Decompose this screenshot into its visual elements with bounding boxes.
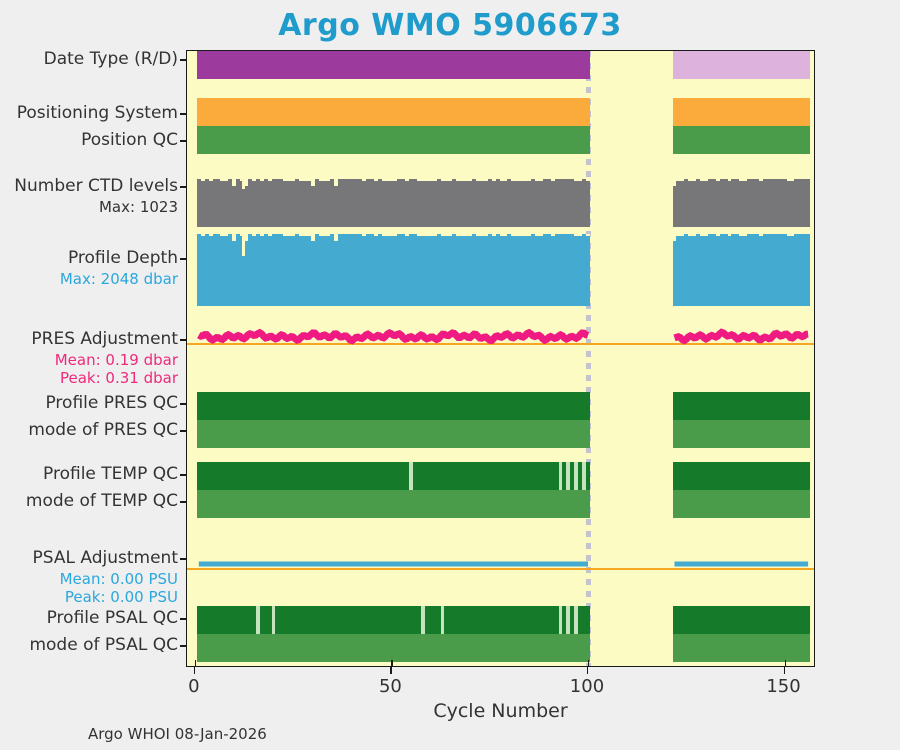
band-notch bbox=[393, 234, 397, 236]
band-notch bbox=[201, 179, 205, 181]
band-notch bbox=[232, 234, 236, 241]
band-notch bbox=[362, 179, 366, 181]
band-notch bbox=[327, 234, 331, 236]
band-notch bbox=[291, 234, 295, 236]
band-notch bbox=[704, 234, 708, 236]
band-notch bbox=[433, 179, 437, 181]
x-axis-title: Cycle Number bbox=[186, 700, 815, 722]
row-sublabel-profile_depth-0: Max: 2048 dbar bbox=[60, 270, 178, 289]
band-notch bbox=[586, 234, 590, 236]
x-tick-label-50: 50 bbox=[350, 676, 430, 697]
row-label-date_type: Date Type (R/D) bbox=[44, 50, 178, 69]
band-notch bbox=[209, 179, 213, 181]
band-notch bbox=[759, 179, 763, 181]
band-dip bbox=[242, 234, 245, 256]
qc-gap-stripe bbox=[559, 462, 563, 490]
band-notch bbox=[232, 179, 236, 186]
x-tick-inner bbox=[195, 660, 197, 666]
band-notch bbox=[374, 179, 378, 181]
row-sublabel-psal_adj-0: Mean: 0.00 PSU bbox=[60, 570, 178, 589]
band-notch bbox=[268, 234, 272, 236]
band-notch bbox=[704, 179, 708, 181]
band-notch bbox=[291, 179, 295, 181]
band-mode_temp_qc bbox=[197, 490, 590, 518]
band-notch bbox=[484, 179, 488, 181]
band-notch bbox=[327, 179, 331, 181]
band-notch bbox=[252, 179, 256, 181]
band-notch bbox=[759, 234, 763, 236]
band-profile_depth bbox=[197, 234, 590, 306]
band-notch bbox=[405, 179, 409, 181]
band-positioning bbox=[673, 98, 811, 126]
band-notch bbox=[728, 234, 732, 236]
qc-gap-stripe bbox=[272, 606, 276, 634]
band-notch bbox=[362, 234, 366, 236]
y-tick-ctd_levels bbox=[180, 186, 186, 188]
band-notch bbox=[334, 179, 338, 186]
y-tick-profile_pres_qc bbox=[180, 403, 186, 405]
x-tick-label-150: 150 bbox=[744, 676, 824, 697]
band-notch bbox=[716, 234, 720, 236]
band-notch bbox=[252, 234, 256, 236]
y-tick-position_qc bbox=[180, 140, 186, 142]
band-position_qc bbox=[197, 126, 590, 154]
band-notch bbox=[551, 179, 555, 181]
band-profile_pres_qc bbox=[197, 392, 590, 420]
row-sublabel-pres_adj-0: Mean: 0.19 dbar bbox=[55, 351, 178, 370]
band-profile_psal_qc bbox=[673, 606, 811, 634]
qc-gap-stripe bbox=[566, 606, 570, 634]
band-notch bbox=[468, 234, 472, 236]
qc-gap-stripe bbox=[421, 606, 425, 634]
x-tick-label-0: 0 bbox=[154, 676, 234, 697]
y-tick-psal_adj bbox=[180, 558, 186, 560]
band-position_qc bbox=[673, 126, 811, 154]
row-sublabel-ctd_levels-0: Max: 1023 bbox=[99, 198, 178, 217]
band-notch bbox=[468, 179, 472, 181]
band-notch bbox=[586, 179, 590, 181]
band-notch bbox=[209, 234, 213, 236]
x-tick-100 bbox=[587, 667, 589, 674]
band-notch bbox=[224, 179, 228, 181]
band-notch bbox=[527, 179, 531, 181]
band-notch bbox=[790, 234, 794, 236]
row-label-profile_temp_qc: Profile TEMP QC bbox=[43, 465, 178, 484]
trace-pres_adj bbox=[187, 321, 815, 361]
band-notch bbox=[448, 179, 452, 181]
band-notch bbox=[503, 179, 507, 181]
band-notch bbox=[551, 234, 555, 236]
trace-path bbox=[199, 333, 588, 341]
band-positioning bbox=[197, 98, 590, 126]
band-notch bbox=[201, 234, 205, 236]
qc-gap-stripe bbox=[574, 606, 578, 634]
x-tick-inner bbox=[785, 660, 787, 666]
band-date_type bbox=[673, 51, 811, 79]
y-tick-mode_temp_qc bbox=[180, 501, 186, 503]
band-notch bbox=[311, 179, 315, 186]
x-tick-inner bbox=[391, 660, 393, 666]
band-notch bbox=[728, 179, 732, 181]
y-tick-profile_temp_qc bbox=[180, 474, 186, 476]
trace-psal_adj bbox=[187, 546, 815, 586]
row-label-profile_psal_qc: Profile PSAL QC bbox=[47, 609, 178, 628]
band-notch bbox=[268, 179, 272, 181]
band-notch bbox=[503, 234, 507, 236]
band-profile_pres_qc bbox=[673, 392, 811, 420]
row-label-mode_psal_qc: mode of PSAL QC bbox=[29, 636, 178, 655]
x-tick-50 bbox=[390, 667, 392, 674]
y-tick-profile_depth bbox=[180, 258, 186, 260]
band-notch bbox=[224, 234, 228, 236]
band-mode_temp_qc bbox=[673, 490, 811, 518]
band-notch bbox=[260, 234, 264, 236]
row-label-profile_depth: Profile Depth bbox=[68, 249, 178, 268]
row-label-mode_pres_qc: mode of PRES QC bbox=[28, 421, 178, 440]
band-notch bbox=[578, 234, 582, 236]
band-notch bbox=[539, 234, 543, 236]
page-title: Argo WMO 5906673 bbox=[0, 8, 900, 43]
row-sublabel-pres_adj-1: Peak: 0.31 dbar bbox=[60, 369, 178, 388]
footer-note: Argo WHOI 08-Jan-2026 bbox=[88, 725, 267, 743]
row-label-psal_adj: PSAL Adjustment bbox=[33, 549, 178, 568]
y-tick-positioning bbox=[180, 113, 186, 115]
y-tick-pres_adj bbox=[180, 339, 186, 341]
band-notch bbox=[578, 179, 582, 181]
band-profile_temp_qc bbox=[197, 462, 590, 490]
qc-gap-stripe bbox=[566, 462, 570, 490]
qc-gap-stripe bbox=[409, 462, 413, 490]
band-notch bbox=[680, 179, 684, 181]
row-label-mode_temp_qc: mode of TEMP QC bbox=[26, 492, 178, 511]
band-notch bbox=[393, 179, 397, 181]
qc-gap-stripe bbox=[582, 462, 586, 490]
band-date_type bbox=[197, 51, 590, 79]
band-notch bbox=[405, 234, 409, 236]
band-notch bbox=[492, 234, 496, 236]
band-dip bbox=[242, 179, 245, 189]
band-notch bbox=[448, 234, 452, 236]
y-tick-date_type bbox=[180, 59, 186, 61]
x-tick-0 bbox=[194, 667, 196, 674]
band-mode_pres_qc bbox=[197, 420, 590, 448]
band-ctd_levels bbox=[197, 179, 590, 227]
y-tick-mode_pres_qc bbox=[180, 430, 186, 432]
qc-gap-stripe bbox=[441, 606, 445, 634]
band-notch bbox=[743, 179, 747, 181]
x-tick-150 bbox=[784, 667, 786, 674]
row-label-ctd_levels: Number CTD levels bbox=[14, 177, 178, 196]
y-tick-mode_psal_qc bbox=[180, 645, 186, 647]
qc-gap-stripe bbox=[574, 462, 578, 490]
trace-path bbox=[675, 332, 809, 340]
row-label-positioning: Positioning System bbox=[17, 104, 178, 123]
x-tick-inner bbox=[588, 660, 590, 666]
band-notch bbox=[692, 179, 696, 181]
band-mode_pres_qc bbox=[673, 420, 811, 448]
band-notch bbox=[527, 234, 531, 236]
band-notch bbox=[692, 234, 696, 236]
qc-gap-stripe bbox=[559, 606, 563, 634]
band-notch bbox=[260, 179, 264, 181]
x-tick-label-100: 100 bbox=[547, 676, 627, 697]
band-profile_temp_qc bbox=[673, 462, 811, 490]
row-label-profile_pres_qc: Profile PRES QC bbox=[45, 394, 178, 413]
band-mode_psal_qc bbox=[673, 634, 811, 662]
band-notch bbox=[539, 179, 543, 181]
band-notch bbox=[334, 234, 338, 241]
qc-gap-stripe bbox=[256, 606, 260, 634]
band-profile_depth bbox=[673, 234, 811, 306]
band-notch bbox=[743, 234, 747, 236]
row-label-position_qc: Position QC bbox=[81, 131, 178, 150]
band-notch bbox=[716, 179, 720, 181]
y-tick-profile_psal_qc bbox=[180, 618, 186, 620]
band-notch bbox=[374, 234, 378, 236]
plot-area bbox=[186, 50, 815, 667]
band-mode_psal_qc bbox=[197, 634, 590, 662]
band-notch bbox=[484, 234, 488, 236]
band-notch bbox=[492, 179, 496, 181]
row-label-pres_adj: PRES Adjustment bbox=[31, 330, 178, 349]
band-notch bbox=[311, 234, 315, 241]
band-notch bbox=[680, 234, 684, 236]
band-notch bbox=[433, 234, 437, 236]
band-notch bbox=[790, 179, 794, 181]
band-ctd_levels bbox=[673, 179, 811, 227]
row-sublabel-psal_adj-1: Peak: 0.00 PSU bbox=[65, 588, 178, 607]
